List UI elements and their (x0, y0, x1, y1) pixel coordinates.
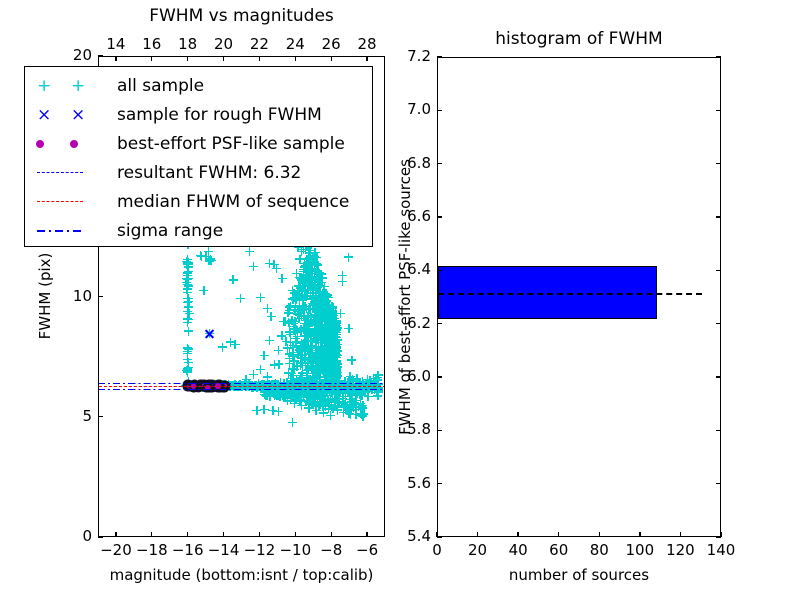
ytick-right (716, 270, 721, 271)
ytick-label-left: 20 (52, 46, 92, 64)
histogram-axes (437, 57, 721, 537)
xtick-bottom (187, 532, 188, 537)
ytick-right (716, 430, 721, 431)
ytick-label-left: 0 (52, 527, 92, 545)
xtick-label-bottom: 60 (539, 541, 579, 559)
xtick-top (115, 56, 116, 61)
ytick-right (716, 163, 721, 164)
scatter-point-all-sample (323, 301, 332, 310)
scatter-point-all-sample (304, 312, 313, 321)
xtick-top (366, 56, 367, 61)
histogram-reference-line (438, 293, 702, 295)
scatter-point-all-sample (314, 270, 323, 279)
legend-entry[interactable]: ××sample for rough FWHM (25, 100, 372, 130)
scatter-point-all-sample (183, 349, 192, 358)
xtick-label-bottom: −6 (345, 541, 389, 559)
ytick-left (437, 216, 442, 217)
xtick-top (331, 56, 332, 61)
scatter-point-all-sample (199, 286, 208, 295)
scatter-point-all-sample (274, 360, 283, 369)
xtick-label-top: 16 (136, 35, 168, 53)
scatter-point-all-sample (263, 391, 272, 400)
reference-line-sigma-range-upper (99, 383, 384, 384)
xtick-label-top: 20 (208, 35, 240, 53)
scatter-point-all-sample (323, 291, 332, 300)
scatter-point-all-sample (344, 253, 353, 262)
scatter-point-all-sample (308, 282, 317, 291)
histogram-plot-area (438, 58, 720, 536)
legend-marker-dot-icon (25, 129, 111, 159)
scatter-point-all-sample (347, 356, 356, 365)
left-xaxis-label: magnitude (bottom:isnt / top:calib) (98, 566, 385, 584)
scatter-point-all-sample (297, 354, 306, 363)
xtick-label-top: 18 (172, 35, 204, 53)
legend-label: sigma range (117, 216, 223, 246)
scatter-point-all-sample (201, 252, 210, 261)
xtick-label-top: 14 (100, 35, 132, 53)
right-panel-title: histogram of FWHM (437, 29, 721, 49)
legend-label: best-effort PSF-like sample (117, 129, 345, 159)
xtick-bottom (558, 532, 559, 537)
scatter-point-all-sample (236, 294, 245, 303)
ytick-label-left: 5.4 (389, 527, 431, 545)
scatter-point-all-sample (313, 333, 322, 342)
figure-canvas: FWHM vs magnitudes −20−18−16−14−12−10−8−… (0, 0, 800, 600)
xtick-bottom (477, 532, 478, 537)
scatter-point-all-sample (302, 371, 311, 380)
ytick-right (716, 110, 721, 111)
legend-entry[interactable]: ++all sample (25, 71, 372, 101)
ytick-right (716, 376, 721, 377)
ytick-left (437, 536, 442, 537)
scatter-point-all-sample (263, 304, 272, 313)
ytick-right (716, 323, 721, 324)
reference-line-sigma-range-lower (99, 389, 384, 390)
scatter-point-all-sample (338, 271, 347, 280)
ytick-left (437, 376, 442, 377)
legend-box: ++all sample××sample for rough FWHMbest-… (24, 66, 373, 247)
scatter-point-all-sample (183, 367, 192, 376)
scatter-point-all-sample (341, 389, 350, 398)
xtick-bottom (680, 532, 681, 537)
scatter-point-all-sample (333, 360, 342, 369)
scatter-point-all-sample (295, 314, 304, 323)
scatter-point-all-sample (332, 333, 341, 342)
xtick-label-top: 28 (351, 35, 383, 53)
ytick-left (98, 536, 103, 537)
scatter-point-all-sample (184, 294, 193, 303)
scatter-point-all-sample (331, 371, 340, 380)
legend-entry[interactable]: resultant FWHM: 6.32 (25, 158, 372, 188)
scatter-point-all-sample (226, 338, 235, 347)
ytick-right (716, 56, 721, 57)
ytick-left (98, 55, 103, 56)
scatter-point-all-sample (336, 309, 345, 318)
scatter-point-all-sample (366, 383, 375, 392)
xtick-bottom (115, 532, 116, 537)
scatter-point-all-sample (184, 263, 193, 272)
scatter-point-all-sample (279, 317, 288, 326)
scatter-point-all-sample (327, 386, 336, 395)
ytick-left (98, 416, 103, 417)
ytick-left (437, 483, 442, 484)
scatter-point-all-sample (317, 325, 326, 334)
xtick-label-top: 24 (279, 35, 311, 53)
ytick-left (437, 270, 442, 271)
legend-marker-dashed-line-icon (25, 158, 111, 188)
ytick-left (437, 110, 442, 111)
scatter-point-all-sample (229, 275, 238, 284)
legend-entry[interactable]: best-effort PSF-like sample (25, 129, 372, 159)
scatter-point-all-sample (321, 354, 330, 363)
xtick-label-bottom: 120 (660, 541, 700, 559)
xtick-top (259, 56, 260, 61)
scatter-point-all-sample (256, 293, 265, 302)
legend-label: all sample (117, 71, 204, 101)
scatter-point-all-sample (265, 336, 274, 345)
legend-label: sample for rough FWHM (117, 100, 322, 130)
xtick-label-bottom: 140 (701, 541, 741, 559)
xtick-label-bottom: 80 (579, 541, 619, 559)
reference-line-median-fhwm-of-sequence (99, 386, 384, 387)
xtick-label-bottom: 40 (498, 541, 538, 559)
ytick-left (437, 430, 442, 431)
scatter-point-all-sample (278, 274, 287, 283)
scatter-point-all-sample (299, 265, 308, 274)
xtick-top (295, 56, 296, 61)
scatter-point-all-sample (267, 312, 276, 321)
xtick-bottom (599, 532, 600, 537)
xtick-label-top: 22 (243, 35, 275, 53)
scatter-point-all-sample (350, 398, 359, 407)
scatter-point-all-sample (344, 324, 353, 333)
xtick-bottom (295, 532, 296, 537)
legend-marker-cross-icon: ×× (25, 100, 111, 130)
scatter-point-all-sample (320, 342, 329, 351)
scatter-point-all-sample (183, 318, 192, 327)
xtick-bottom (259, 532, 260, 537)
legend-entry[interactable]: sigma range (25, 216, 372, 246)
xtick-top (187, 56, 188, 61)
scatter-point-all-sample (249, 262, 258, 271)
legend-marker-plus-icon: ++ (25, 71, 111, 101)
scatter-point-all-sample (293, 327, 302, 336)
scatter-point-all-sample (260, 405, 269, 414)
scatter-point-all-sample (265, 259, 274, 268)
ytick-left (98, 296, 103, 297)
xtick-label-top: 26 (315, 35, 347, 53)
scatter-point-all-sample (274, 407, 283, 416)
xtick-bottom (639, 532, 640, 537)
xtick-bottom (223, 532, 224, 537)
legend-label: resultant FWHM: 6.32 (117, 158, 301, 188)
right-yaxis-label: FWHM of best-effort PSF-like sources (396, 82, 414, 512)
scatter-point-all-sample (316, 367, 325, 376)
ytick-left (437, 323, 442, 324)
xtick-bottom (331, 532, 332, 537)
scatter-point-rough-fwhm (204, 328, 215, 339)
scatter-point-all-sample (369, 374, 378, 383)
scatter-point-all-sample (285, 349, 294, 358)
legend-marker-dashdot-line-icon (25, 216, 111, 246)
xtick-bottom (366, 532, 367, 537)
scatter-point-all-sample (295, 345, 304, 354)
ytick-right (716, 483, 721, 484)
ytick-left (437, 163, 442, 164)
xtick-bottom (517, 532, 518, 537)
scatter-point-all-sample (182, 278, 191, 287)
scatter-point-all-sample (316, 392, 325, 401)
scatter-point-all-sample (297, 273, 306, 282)
ytick-label-left: 5 (52, 407, 92, 425)
scatter-point-all-sample (332, 321, 341, 330)
left-panel-title: FWHM vs magnitudes (98, 6, 385, 26)
ytick-right (716, 216, 721, 217)
ytick-right (716, 536, 721, 537)
legend-label: median FHWM of sequence (117, 187, 349, 217)
scatter-point-all-sample (286, 302, 295, 311)
scatter-point-all-sample (312, 261, 321, 270)
scatter-point-all-sample (183, 307, 192, 316)
scatter-point-all-sample (296, 283, 305, 292)
xtick-bottom (151, 532, 152, 537)
ytick-label-left: 7.2 (389, 47, 431, 65)
legend-entry[interactable]: median FHWM of sequence (25, 187, 372, 217)
xtick-label-bottom: 20 (458, 541, 498, 559)
scatter-point-all-sample (288, 418, 297, 427)
scatter-point-all-sample (274, 346, 283, 355)
xtick-label-bottom: 100 (620, 541, 660, 559)
scatter-point-all-sample (260, 351, 269, 360)
xtick-top (223, 56, 224, 61)
scatter-point-all-sample (245, 247, 254, 256)
ytick-left (437, 56, 442, 57)
xtick-top (151, 56, 152, 61)
right-xaxis-label: number of sources (437, 566, 721, 584)
ytick-label-left: 10 (52, 287, 92, 305)
scatter-point-all-sample (356, 409, 365, 418)
legend-marker-dashed-line-icon (25, 187, 111, 217)
scatter-point-all-sample (184, 327, 193, 336)
